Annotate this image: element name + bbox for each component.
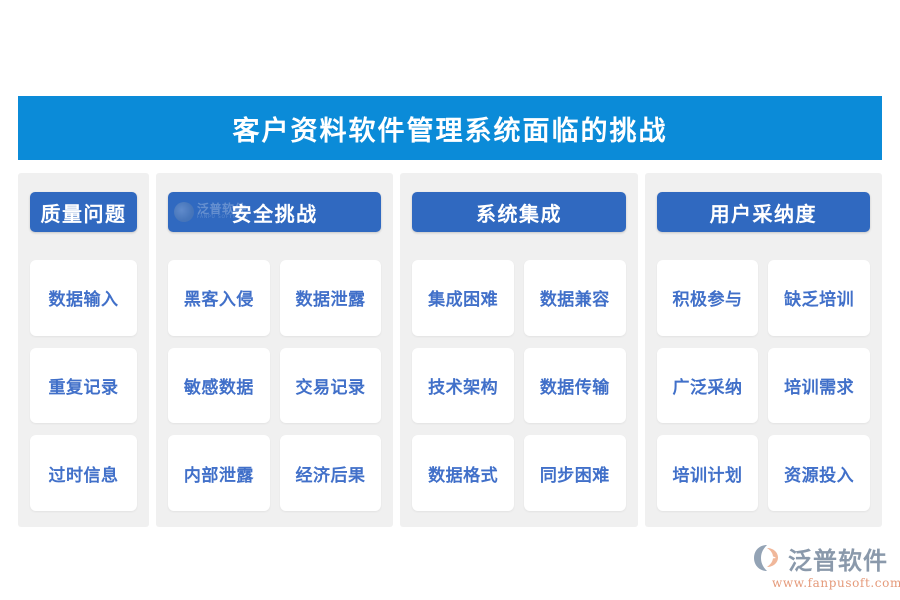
category-header-adoption[interactable]: 用户采纳度 [657, 192, 870, 232]
card-item[interactable]: 数据传输 [524, 348, 626, 424]
card-grid-adoption: 积极参与 缺乏培训 广泛采纳 培训需求 培训计划 资源投入 [657, 260, 870, 511]
card-item[interactable]: 过时信息 [30, 435, 137, 511]
card-item[interactable]: 黑客入侵 [168, 260, 270, 336]
category-header-label: 安全挑战 [232, 198, 318, 227]
card-label: 同步困难 [540, 461, 610, 486]
card-label: 数据输入 [49, 285, 119, 310]
card-item[interactable]: 技术架构 [412, 348, 514, 424]
card-label: 数据泄露 [295, 285, 365, 310]
card-item[interactable]: 重复记录 [30, 348, 137, 424]
card-label: 黑客入侵 [184, 285, 254, 310]
fanpu-logo-icon [752, 542, 784, 574]
card-item[interactable]: 缺乏培训 [768, 260, 870, 336]
card-item[interactable]: 培训计划 [657, 435, 759, 511]
card-item[interactable]: 敏感数据 [168, 348, 270, 424]
category-header-security[interactable]: 泛普软件 FANPU SOFTWARE 安全挑战 [168, 192, 381, 232]
page-title: 客户资料软件管理系统面临的挑战 [233, 109, 668, 148]
card-item[interactable]: 同步困难 [524, 435, 626, 511]
card-label: 资源投入 [784, 461, 854, 486]
card-item[interactable]: 数据泄露 [280, 260, 382, 336]
category-columns: 质量问题 数据输入 重复记录 过时信息 泛普软件 [18, 173, 882, 527]
brand-logo-row: 泛普软件 [752, 542, 890, 574]
card-item[interactable]: 广泛采纳 [657, 348, 759, 424]
category-header-integration[interactable]: 系统集成 [412, 192, 625, 232]
card-label: 积极参与 [672, 285, 742, 310]
card-grid-security: 黑客入侵 数据泄露 敏感数据 交易记录 内部泄露 经济后果 [168, 260, 381, 511]
card-label: 培训计划 [672, 461, 742, 486]
card-item[interactable]: 集成困难 [412, 260, 514, 336]
card-label: 敏感数据 [184, 373, 254, 398]
title-banner: 客户资料软件管理系统面临的挑战 [18, 96, 882, 160]
card-grid-integration: 集成困难 数据兼容 技术架构 数据传输 数据格式 同步困难 [412, 260, 625, 511]
card-label: 数据传输 [540, 373, 610, 398]
card-label: 技术架构 [428, 373, 498, 398]
card-item[interactable]: 内部泄露 [168, 435, 270, 511]
card-label: 集成困难 [428, 285, 498, 310]
card-item[interactable]: 数据格式 [412, 435, 514, 511]
card-label: 广泛采纳 [672, 373, 742, 398]
infographic-canvas: 客户资料软件管理系统面临的挑战 质量问题 数据输入 重复记录 过时信息 [0, 0, 900, 600]
card-item[interactable]: 经济后果 [280, 435, 382, 511]
category-header-label: 系统集成 [476, 198, 562, 227]
category-column-quality: 质量问题 数据输入 重复记录 过时信息 [18, 173, 149, 527]
brand-name: 泛普软件 [788, 541, 888, 576]
card-item[interactable]: 培训需求 [768, 348, 870, 424]
card-item[interactable]: 数据输入 [30, 260, 137, 336]
category-header-quality[interactable]: 质量问题 [30, 192, 137, 232]
card-label: 数据格式 [428, 461, 498, 486]
card-label: 重复记录 [49, 373, 119, 398]
card-label: 交易记录 [295, 373, 365, 398]
fanpu-logo-icon [174, 202, 194, 222]
card-label: 经济后果 [295, 461, 365, 486]
card-item[interactable]: 积极参与 [657, 260, 759, 336]
card-item[interactable]: 资源投入 [768, 435, 870, 511]
card-item[interactable]: 交易记录 [280, 348, 382, 424]
card-label: 培训需求 [784, 373, 854, 398]
card-grid-quality: 数据输入 重复记录 过时信息 [30, 260, 137, 511]
card-label: 过时信息 [49, 461, 119, 486]
category-column-integration: 系统集成 集成困难 数据兼容 技术架构 数据传输 数据格式 [400, 173, 637, 527]
card-item[interactable]: 数据兼容 [524, 260, 626, 336]
category-column-adoption: 用户采纳度 积极参与 缺乏培训 广泛采纳 培训需求 培训计划 [645, 173, 882, 527]
category-column-security: 泛普软件 FANPU SOFTWARE 安全挑战 黑客入侵 数据泄露 敏感数据 … [156, 173, 393, 527]
card-label: 缺乏培训 [784, 285, 854, 310]
card-label: 数据兼容 [540, 285, 610, 310]
category-header-label: 质量问题 [41, 198, 127, 227]
card-label: 内部泄露 [184, 461, 254, 486]
brand-logo: 泛普软件 www.fanpusoft.com [752, 541, 890, 591]
category-header-label: 用户采纳度 [710, 198, 818, 227]
brand-url: www.fanpusoft.com [772, 576, 890, 590]
